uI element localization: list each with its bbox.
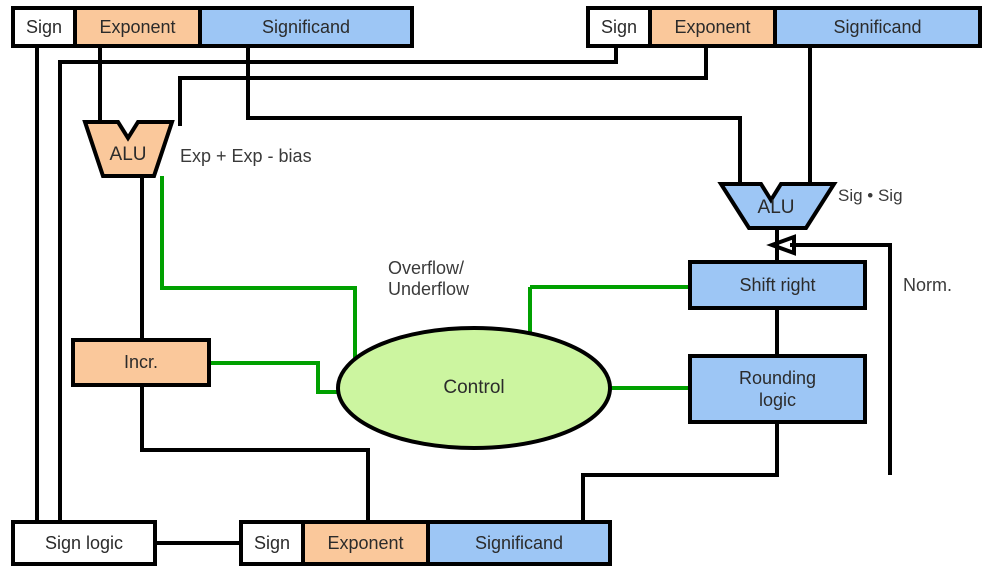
register-a-exponent-box (75, 8, 200, 46)
result-significand-box (428, 522, 610, 564)
sign-logic-box (13, 522, 155, 564)
register-b-significand-box (775, 8, 980, 46)
overflow-underflow-annotation: Overflow/ Underflow (388, 258, 469, 299)
register-a-sign-box (13, 8, 75, 46)
register-b-exponent-box (650, 8, 775, 46)
result-sign-box (241, 522, 303, 564)
control-ellipse (338, 328, 610, 448)
shape-layer (0, 0, 990, 575)
exponent-alu-shape (85, 122, 172, 176)
fp-multiply-datapath-diagram: Sign Exponent Significand Sign Exponent … (0, 0, 990, 575)
result-exponent-box (303, 522, 428, 564)
significand-alu-operation-label: Sig • Sig (838, 186, 903, 206)
incrementer-box (73, 340, 209, 385)
register-b-sign-box (588, 8, 650, 46)
significand-alu-shape (721, 184, 834, 228)
exponent-alu-operation-label: Exp + Exp - bias (180, 146, 312, 167)
rounding-logic-box (690, 356, 865, 422)
shift-right-box (690, 262, 865, 308)
register-a-significand-box (200, 8, 412, 46)
normalize-annotation: Norm. (903, 275, 952, 296)
